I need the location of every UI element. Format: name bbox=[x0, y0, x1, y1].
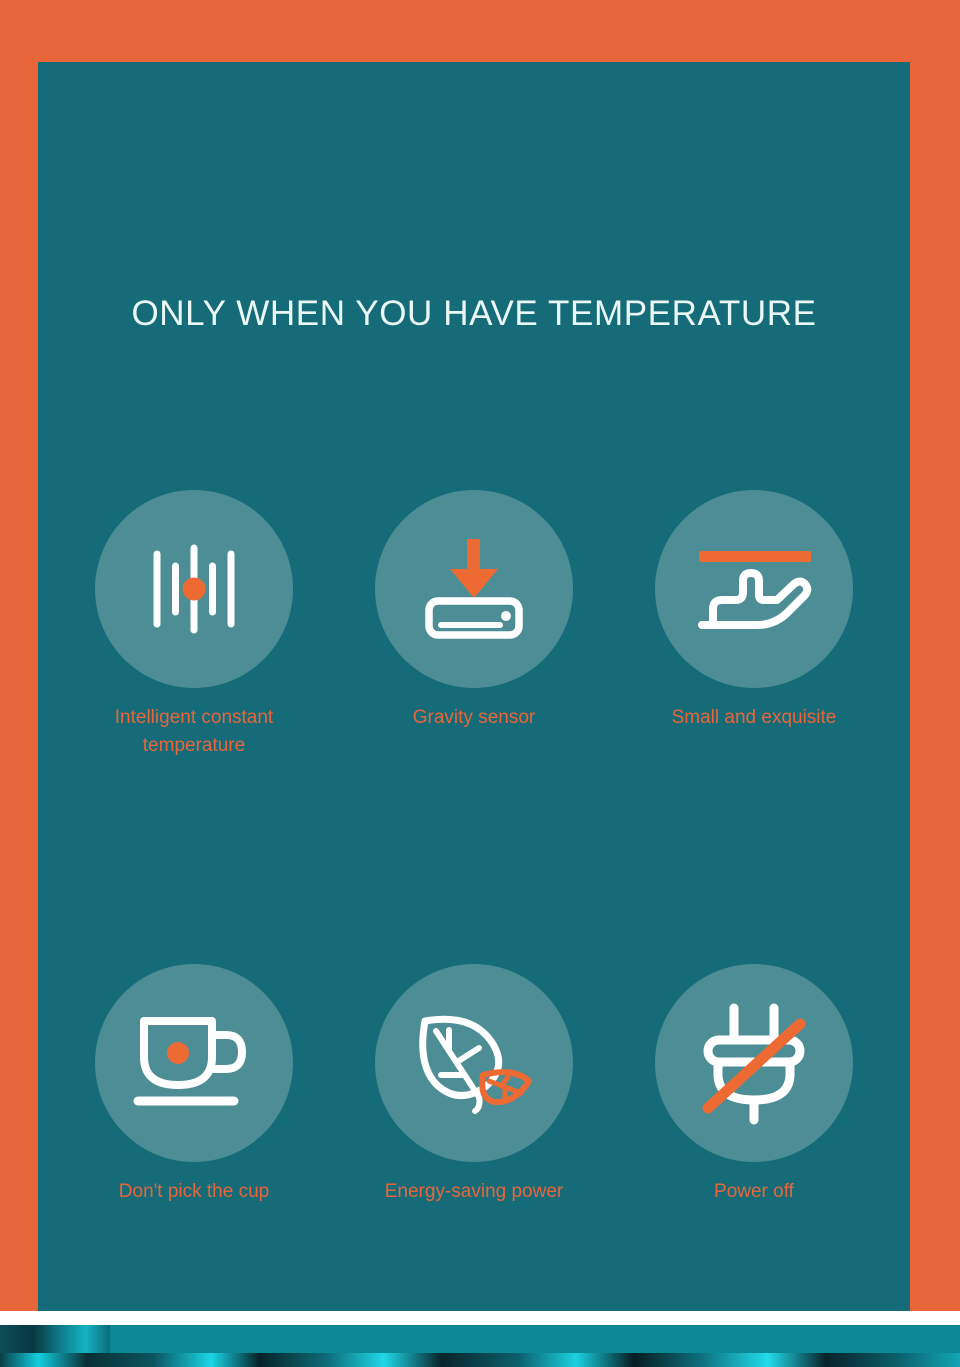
feature-item-small-and-exquisite[interactable]: Small and exquisite bbox=[634, 490, 874, 732]
feature-label: Gravity sensor bbox=[359, 704, 589, 732]
temperature-bars-icon bbox=[134, 529, 254, 649]
white-divider-strip bbox=[0, 1311, 960, 1325]
icon-circle bbox=[375, 490, 573, 688]
plug-off-icon bbox=[694, 1000, 814, 1126]
icon-circle bbox=[655, 490, 853, 688]
open-hand-icon bbox=[689, 529, 819, 649]
feature-label: Small and exquisite bbox=[639, 704, 869, 732]
feature-label: Intelligent constant temperature bbox=[79, 704, 309, 760]
coffee-cup-icon bbox=[130, 1007, 258, 1119]
feature-item-gravity-sensor[interactable]: Gravity sensor bbox=[354, 490, 594, 732]
product-photo-bleed bbox=[0, 1325, 960, 1367]
feature-row: Intelligent constant temperature bbox=[74, 490, 874, 760]
gravity-sensor-icon bbox=[412, 527, 536, 651]
poster-panel: ONLY WHEN YOU HAVE TEMPERATURE bbox=[38, 62, 910, 1311]
feature-item-energy-saving-power[interactable]: Energy-saving power bbox=[354, 964, 594, 1206]
leaf-icon bbox=[409, 1003, 539, 1123]
photo-bottom-glow bbox=[0, 1353, 960, 1367]
feature-label: Don't pick the cup bbox=[79, 1178, 309, 1206]
page-title: ONLY WHEN YOU HAVE TEMPERATURE bbox=[38, 294, 910, 334]
feature-item-power-off[interactable]: Power off bbox=[634, 964, 874, 1206]
icon-circle bbox=[95, 964, 293, 1162]
icon-circle bbox=[655, 964, 853, 1162]
feature-item-intelligent-constant-temperature[interactable]: Intelligent constant temperature bbox=[74, 490, 314, 760]
feature-label: Power off bbox=[639, 1178, 869, 1206]
feature-grid: Intelligent constant temperature bbox=[74, 490, 874, 1206]
feature-row: Don't pick the cup bbox=[74, 964, 874, 1206]
icon-circle bbox=[95, 490, 293, 688]
feature-label: Energy-saving power bbox=[359, 1178, 589, 1206]
feature-item-dont-pick-the-cup[interactable]: Don't pick the cup bbox=[74, 964, 314, 1206]
product-feature-poster: ONLY WHEN YOU HAVE TEMPERATURE bbox=[0, 0, 960, 1367]
icon-circle bbox=[375, 964, 573, 1162]
